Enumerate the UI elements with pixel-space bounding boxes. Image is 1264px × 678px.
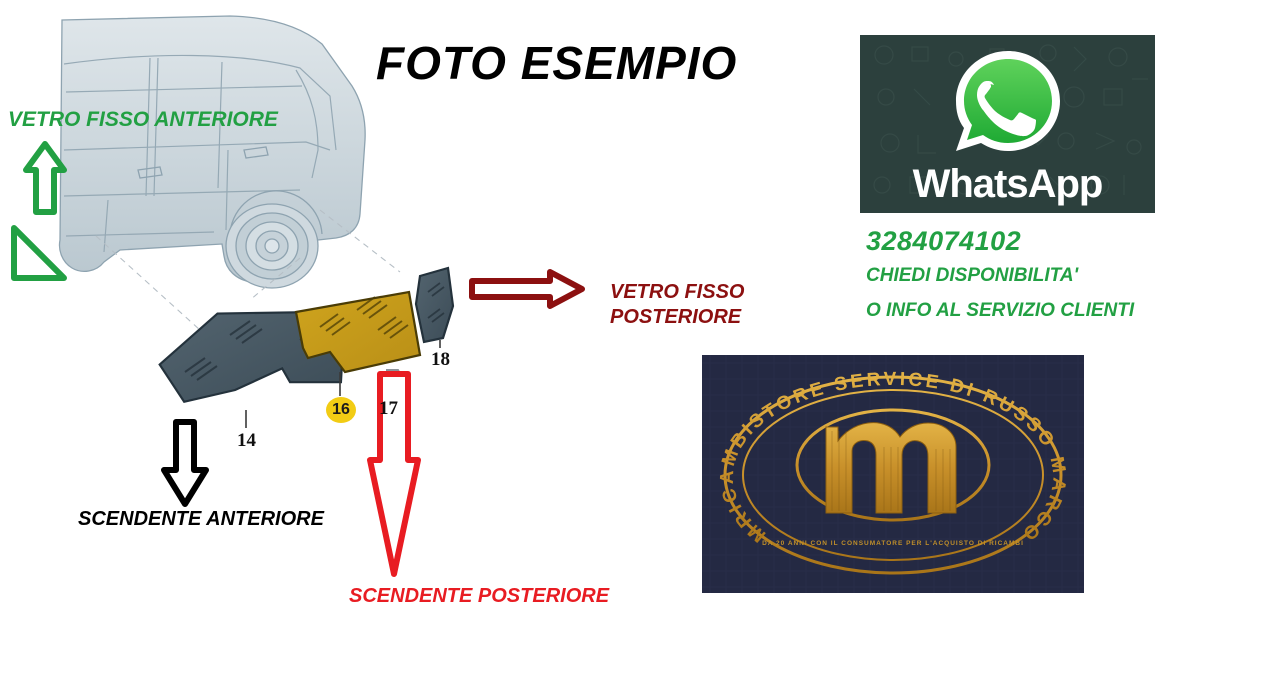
label-vetro-fisso-posteriore-line2: POSTERIORE [610,305,744,330]
whatsapp-banner: WhatsApp [860,35,1155,213]
label-scendente-anteriore: SCENDENTE ANTERIORE [78,508,324,531]
whatsapp-cta-line1: CHIEDI DISPONIBILITA' [866,265,1078,287]
whatsapp-phone-number[interactable]: 3284074102 [866,226,1021,257]
label-vetro-fisso-posteriore-line1: VETRO FISSO [610,280,744,305]
part-number-16-badge: 16 [326,397,356,423]
label-vetro-fisso-anteriore: VETRO FISSO ANTERIORE [8,108,278,132]
whatsapp-icon [942,45,1074,169]
part-number-14: 14 [237,430,256,452]
whatsapp-wordmark: WhatsApp [860,162,1155,207]
green-up-arrow [22,140,68,218]
car-parts-diagram [0,0,640,640]
dark-red-right-arrow [468,268,586,310]
green-triangle-icon [8,222,68,284]
label-scendente-posteriore: SCENDENTE POSTERIORE [349,585,609,608]
glass-rear-fixed [416,268,453,342]
label-vetro-fisso-posteriore: VETRO FISSO POSTERIORE [610,280,744,330]
part-number-17: 17 [379,398,398,420]
black-down-arrow [158,418,212,508]
page-title: FOTO ESEMPIO [376,36,796,90]
logo-tagline: DA 20 ANNI CON IL CONSUMATORE PER L'ACQU… [762,540,1024,547]
shop-logo-graphic: MRICAMBISTORE SERVICE DI RUSSO MARCO DA … [702,355,1084,593]
whatsapp-cta-line2: O INFO AL SERVIZIO CLIENTI [866,300,1134,322]
part-number-18: 18 [431,349,450,371]
shop-logo: MRICAMBISTORE SERVICE DI RUSSO MARCO DA … [702,355,1084,593]
